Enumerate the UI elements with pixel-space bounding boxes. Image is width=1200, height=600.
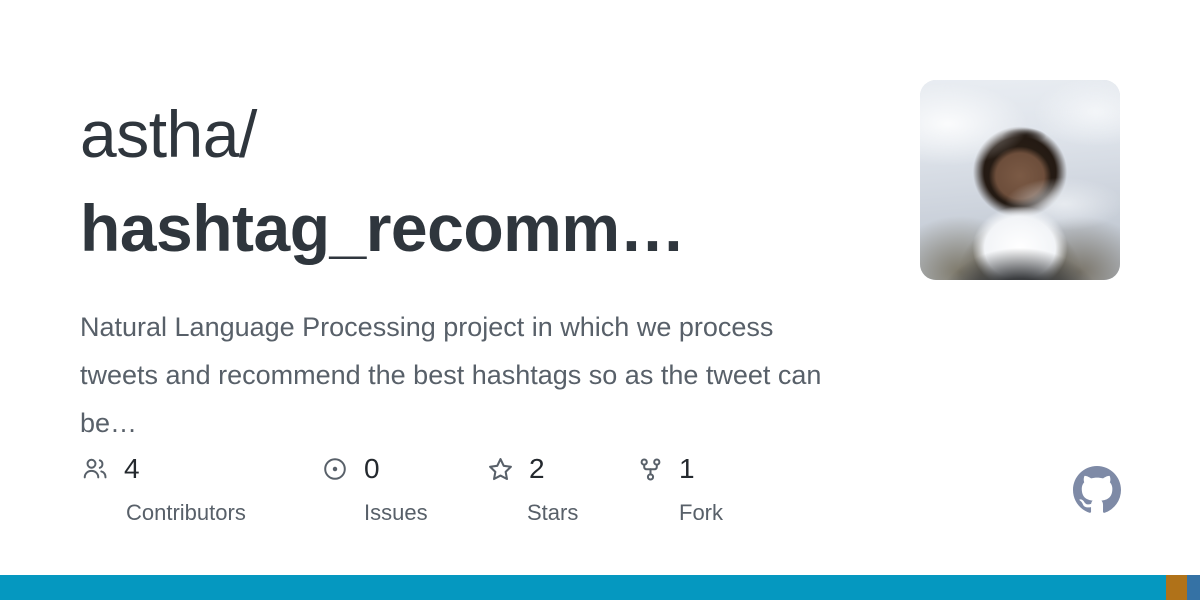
repository-info: astha/ hashtag_recomm… Natural Language … [80,88,870,447]
people-icon [80,454,110,484]
stat-stars: 2 Stars [485,452,635,526]
stat-stars-value: 2 [529,454,545,484]
repo-forked-icon [635,454,665,484]
stat-issues-value: 0 [364,454,380,484]
issue-opened-icon [320,454,350,484]
repository-owner: astha/ [80,88,840,182]
stat-forks: 1 Fork [635,452,785,526]
stat-forks-value: 1 [679,454,695,484]
repository-description: Natural Language Processing project in w… [80,303,855,447]
stat-issues-label: Issues [364,500,428,526]
stat-forks-label: Fork [679,500,723,526]
stat-stars-top: 2 [485,452,545,486]
owner-avatar-photo [920,80,1120,280]
stat-contributors-top: 4 [80,452,140,486]
stat-contributors-label: Contributors [126,500,246,526]
stat-contributors: 4 Contributors [80,452,320,526]
owner-avatar [920,80,1120,280]
stat-issues: 0 Issues [320,452,485,526]
star-icon [485,454,515,484]
stat-contributors-value: 4 [124,454,140,484]
stat-issues-top: 0 [320,452,380,486]
github-mark-icon [1073,466,1121,514]
repository-stats: 4 Contributors 0 Issues [80,452,785,526]
repository-social-preview-card: astha/ hashtag_recomm… Natural Language … [0,0,1200,600]
language-bar [0,575,1200,600]
repository-name: hashtag_recomm… [80,182,810,276]
page-title: astha/ hashtag_recomm… [80,88,840,275]
stat-stars-label: Stars [527,500,578,526]
language-segment-secondary [1166,575,1186,600]
stat-forks-top: 1 [635,452,695,486]
language-segment-tertiary [1187,575,1200,600]
language-segment-primary [0,575,1166,600]
